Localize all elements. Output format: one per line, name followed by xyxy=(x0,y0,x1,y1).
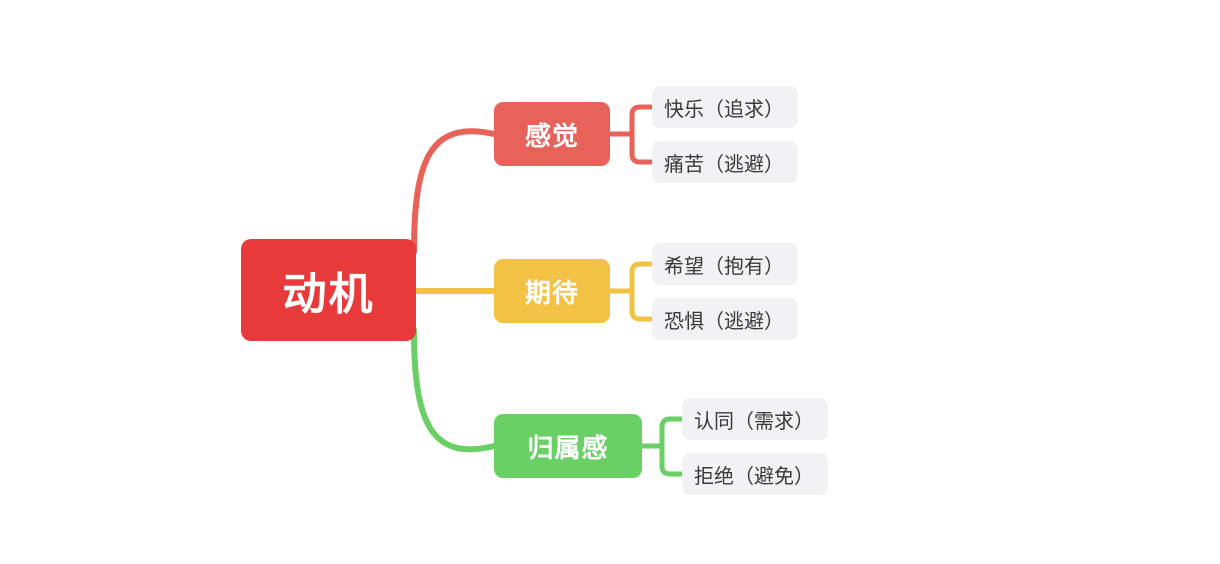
connector-branch-1-to-leaf-1 xyxy=(632,107,652,134)
connector-root-to-branch-1 xyxy=(414,131,494,252)
branch-node-expectation[interactable]: 期待 xyxy=(494,259,610,323)
mind-map-canvas: 动机 感觉 快乐（追求） 痛苦（逃避） 期待 希望（抱有） 恐惧（逃避） 归属感… xyxy=(0,0,1220,564)
leaf-node-identity-need[interactable]: 认同（需求） xyxy=(682,398,828,440)
connector-branch-3-to-leaf-2 xyxy=(662,446,682,474)
connector-branch-1-to-leaf-2 xyxy=(632,134,652,162)
leaf-node-pleasure-pursue[interactable]: 快乐（追求） xyxy=(652,86,798,128)
connector-branch-2-to-leaf-2 xyxy=(632,291,652,319)
root-node-motivation[interactable]: 动机 xyxy=(241,239,416,341)
connector-root-to-branch-3 xyxy=(414,330,494,449)
connector-branch-3-to-leaf-1 xyxy=(662,419,682,446)
connector-layer xyxy=(0,0,1220,564)
leaf-node-hope-hold[interactable]: 希望（抱有） xyxy=(652,243,798,285)
branch-node-feeling[interactable]: 感觉 xyxy=(494,102,610,166)
leaf-node-pain-avoid[interactable]: 痛苦（逃避） xyxy=(652,141,798,183)
branch-node-belonging[interactable]: 归属感 xyxy=(494,414,642,478)
leaf-node-rejection-avoid[interactable]: 拒绝（避免） xyxy=(682,453,828,495)
connector-branch-2-to-leaf-1 xyxy=(632,264,652,291)
leaf-node-fear-avoid[interactable]: 恐惧（逃避） xyxy=(652,298,798,340)
